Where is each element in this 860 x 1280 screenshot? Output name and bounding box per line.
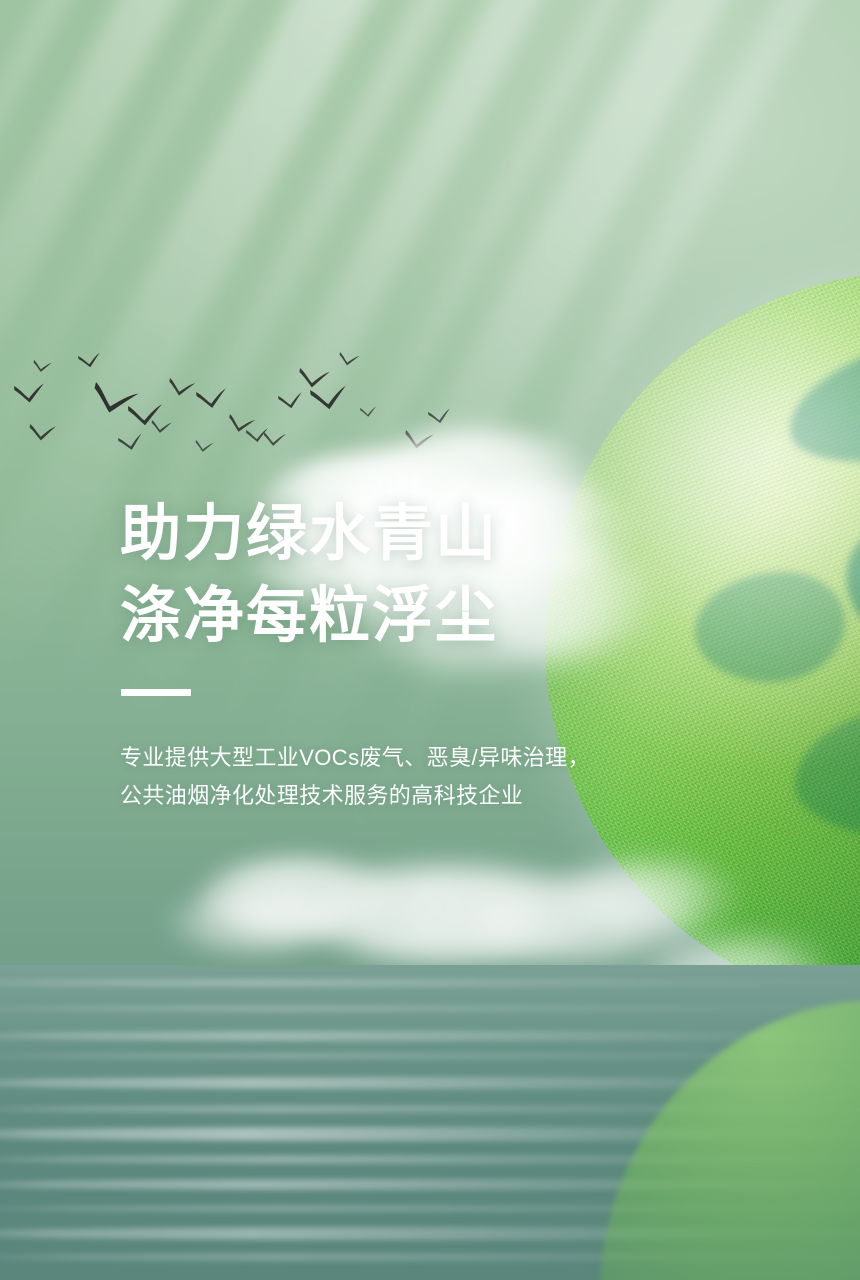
water-wave-streak — [0, 1005, 860, 1012]
hero-text-block: 助力绿水青山 涤净每粒浮尘 专业提供大型工业VOCs废气、恶臭/异味治理， 公共… — [120, 492, 760, 815]
water-surface — [0, 965, 860, 1280]
subtitle-line-1: 专业提供大型工业VOCs废气、恶臭/异味治理， — [120, 739, 760, 777]
headline-line-2: 涤净每粒浮尘 — [120, 574, 760, 656]
subtitle-line-2: 公共油烟净化处理技术服务的高科技企业 — [120, 777, 760, 815]
white-divider-bar — [121, 689, 191, 696]
hero-banner: 助力绿水青山 涤净每粒浮尘 专业提供大型工业VOCs废气、恶臭/异味治理， 公共… — [0, 0, 860, 1280]
water-wave-streak — [0, 1155, 860, 1164]
water-wave-streak — [0, 979, 860, 987]
water-wave-streak — [0, 1179, 860, 1190]
water-wave-streak — [0, 1031, 860, 1041]
water-wave-streak — [0, 1105, 860, 1113]
headline-line-1: 助力绿水青山 — [120, 492, 760, 574]
water-wave-streak — [0, 1205, 860, 1212]
water-wave-streak — [0, 1227, 860, 1240]
water-wave-streak — [0, 1053, 860, 1059]
water-wave-streak — [0, 1077, 860, 1089]
water-wave-streak — [0, 1127, 860, 1141]
water-wave-streak — [0, 1253, 860, 1261]
